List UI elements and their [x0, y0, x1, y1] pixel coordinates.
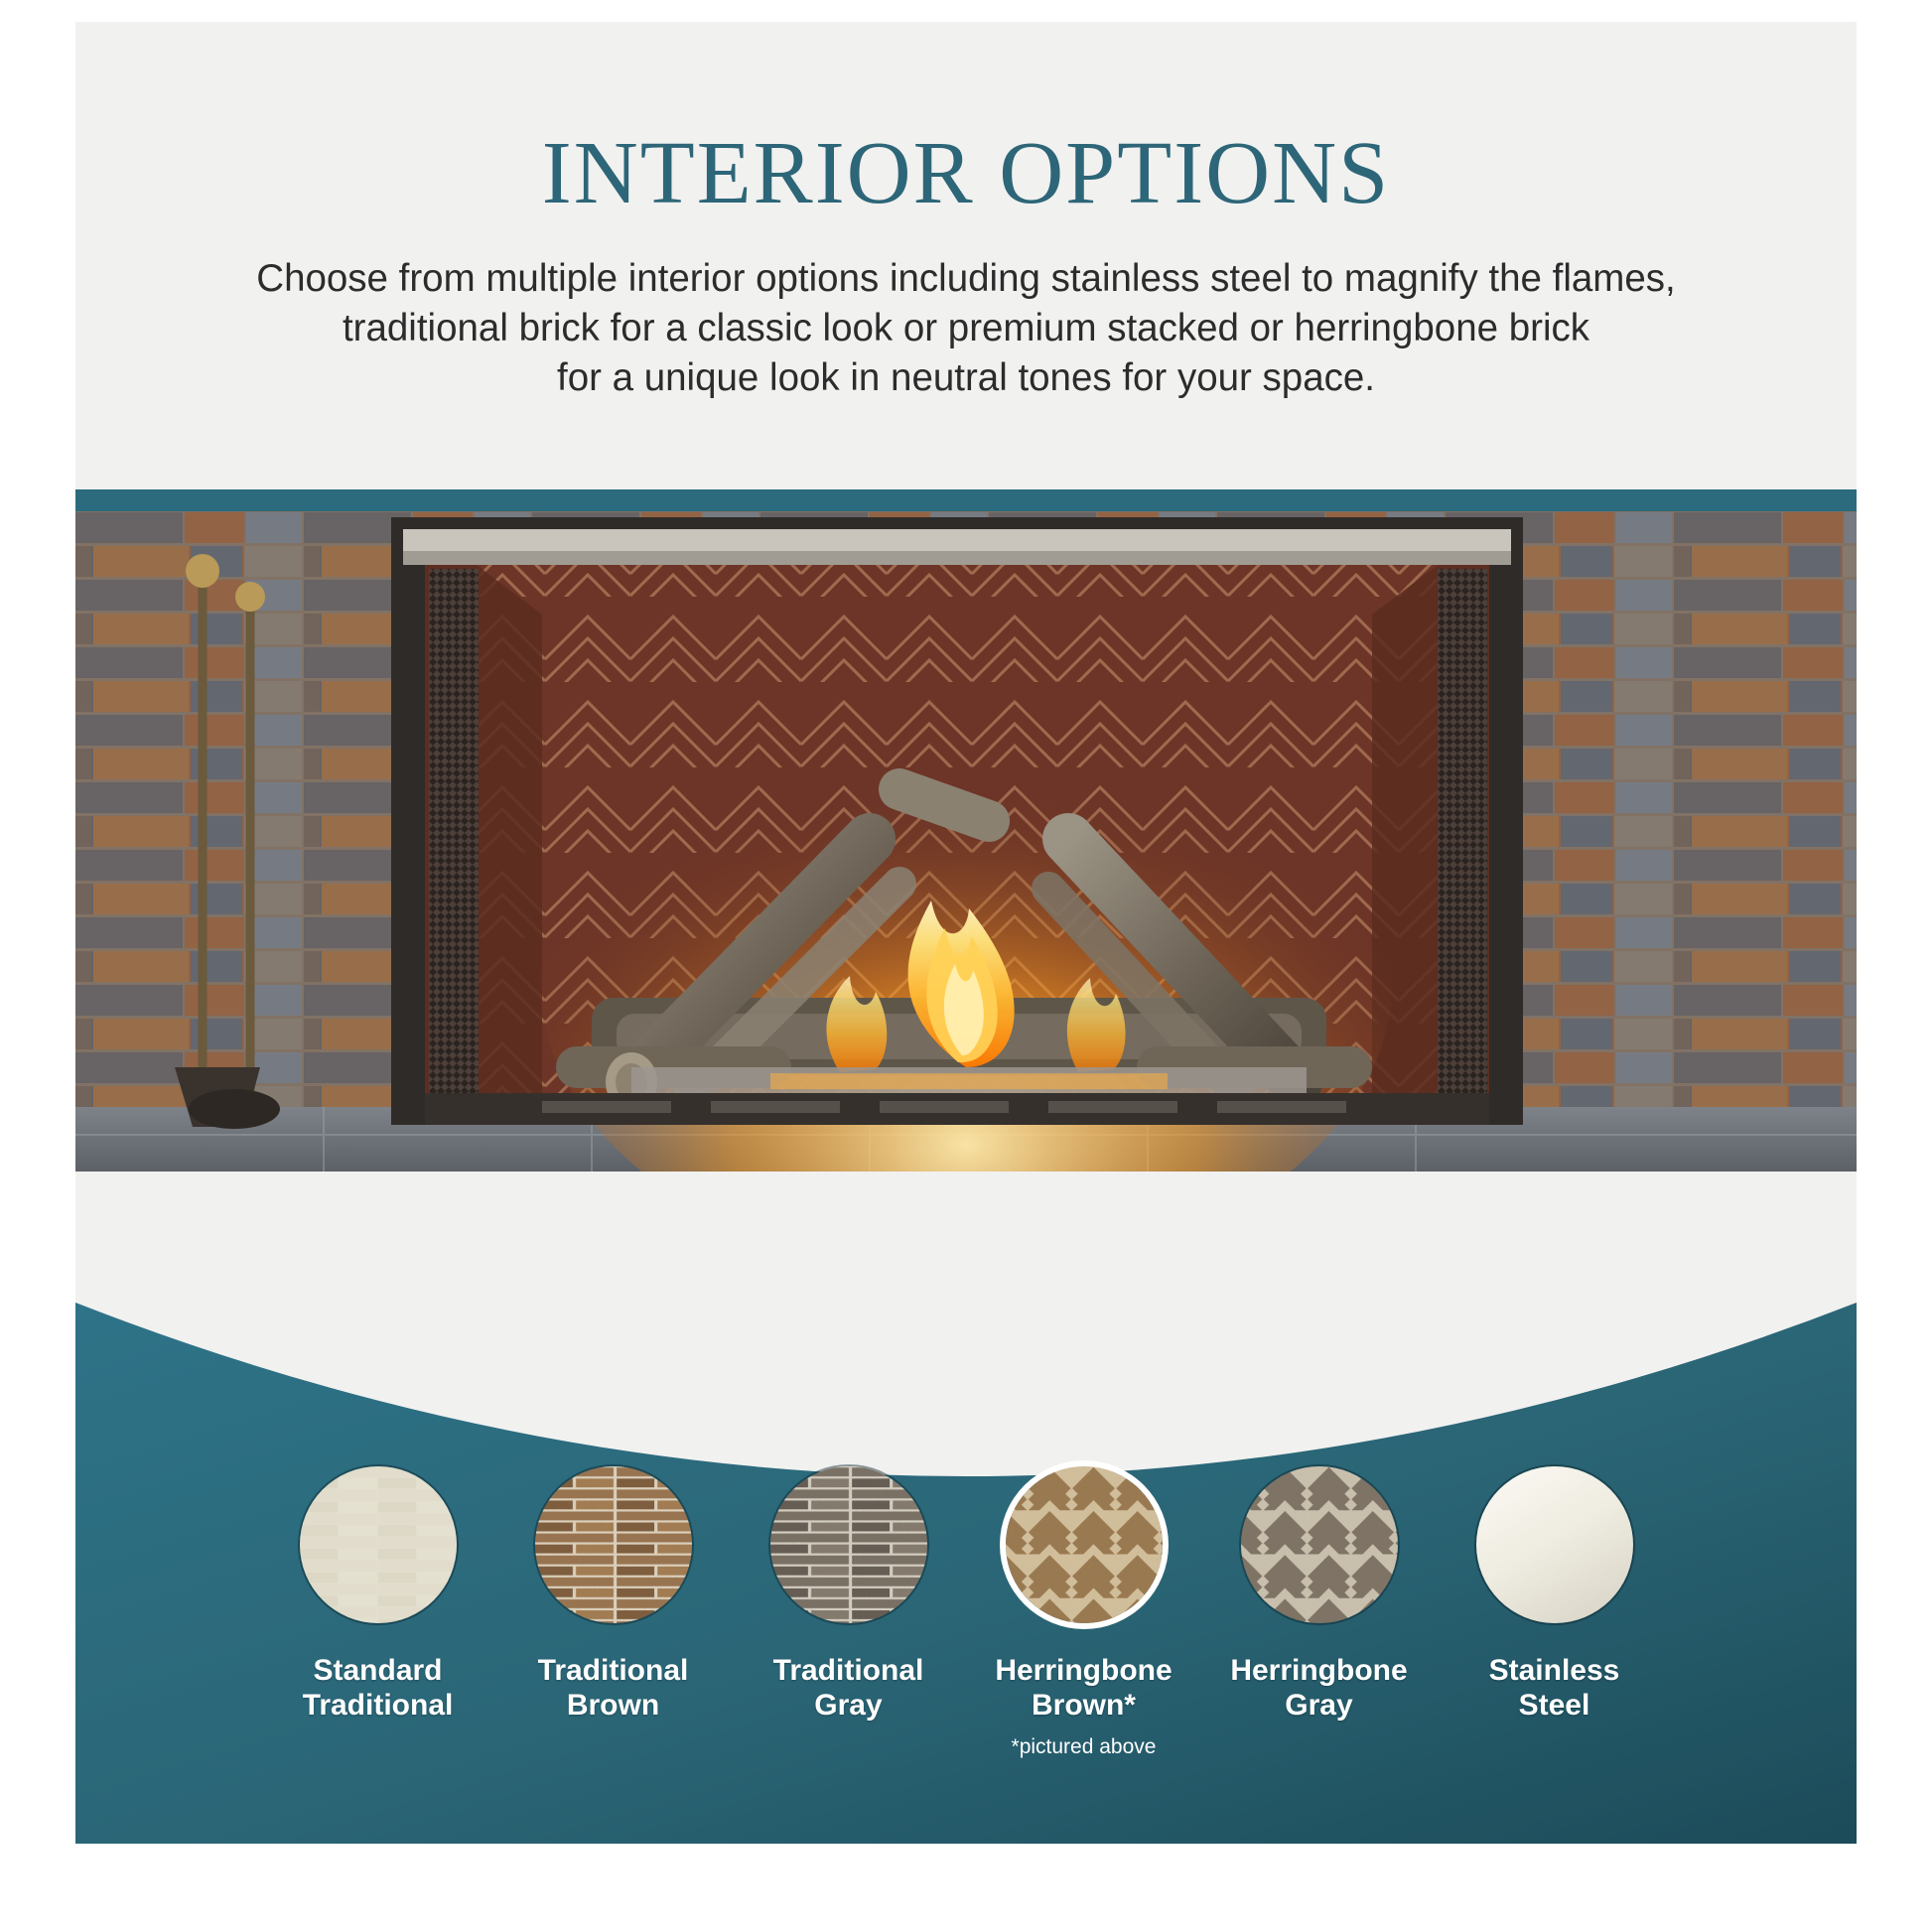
interior-options-card: INTERIOR OPTIONS Choose from multiple in…: [75, 22, 1857, 1844]
subtitle-line-3: for a unique look in neutral tones for y…: [145, 353, 1787, 403]
swatch-label-traditional-brown: Traditional Brown: [538, 1653, 689, 1724]
swatch-note-pictured-above: *pictured above: [1012, 1735, 1157, 1759]
swatch-standard-traditional[interactable]: Standard Traditional: [271, 1466, 484, 1724]
page-title: INTERIOR OPTIONS: [75, 129, 1857, 218]
teal-divider-strip: [75, 489, 1857, 511]
subtitle-line-2: traditional brick for a classic look or …: [145, 304, 1787, 353]
subtitle-line-1: Choose from multiple interior options in…: [145, 254, 1787, 304]
subtitle-paragraph: Choose from multiple interior options in…: [75, 254, 1857, 403]
swatch-label-traditional-gray: Traditional Gray: [773, 1653, 924, 1724]
swatch-herringbone-brown[interactable]: Herringbone Brown* *pictured above: [977, 1466, 1190, 1759]
swatch-label-herringbone-brown: Herringbone Brown*: [995, 1653, 1172, 1724]
swatch-row: Standard Traditional: [75, 1466, 1857, 1844]
swatch-thumbnail-traditional-brown[interactable]: [535, 1466, 692, 1623]
swatch-herringbone-gray[interactable]: Herringbone Gray: [1212, 1466, 1426, 1724]
swatch-label-herringbone-gray: Herringbone Gray: [1230, 1653, 1407, 1724]
header-section: INTERIOR OPTIONS Choose from multiple in…: [75, 22, 1857, 489]
swatch-thumbnail-herringbone-brown[interactable]: [1006, 1466, 1163, 1623]
swatch-thumbnail-herringbone-gray[interactable]: [1241, 1466, 1398, 1623]
swatch-label-stainless-steel: Stainless Steel: [1489, 1653, 1620, 1724]
swatch-traditional-brown[interactable]: Traditional Brown: [506, 1466, 720, 1724]
swatch-thumbnail-standard-traditional[interactable]: [300, 1466, 457, 1623]
swatch-label-standard-traditional: Standard Traditional: [303, 1653, 454, 1724]
fireplace-photo: [75, 511, 1857, 1172]
swatch-stainless-steel[interactable]: Stainless Steel: [1448, 1466, 1661, 1724]
swatch-traditional-gray[interactable]: Traditional Gray: [742, 1466, 955, 1724]
swatch-thumbnail-traditional-gray[interactable]: [770, 1466, 927, 1623]
swatch-thumbnail-stainless-steel[interactable]: [1476, 1466, 1633, 1623]
